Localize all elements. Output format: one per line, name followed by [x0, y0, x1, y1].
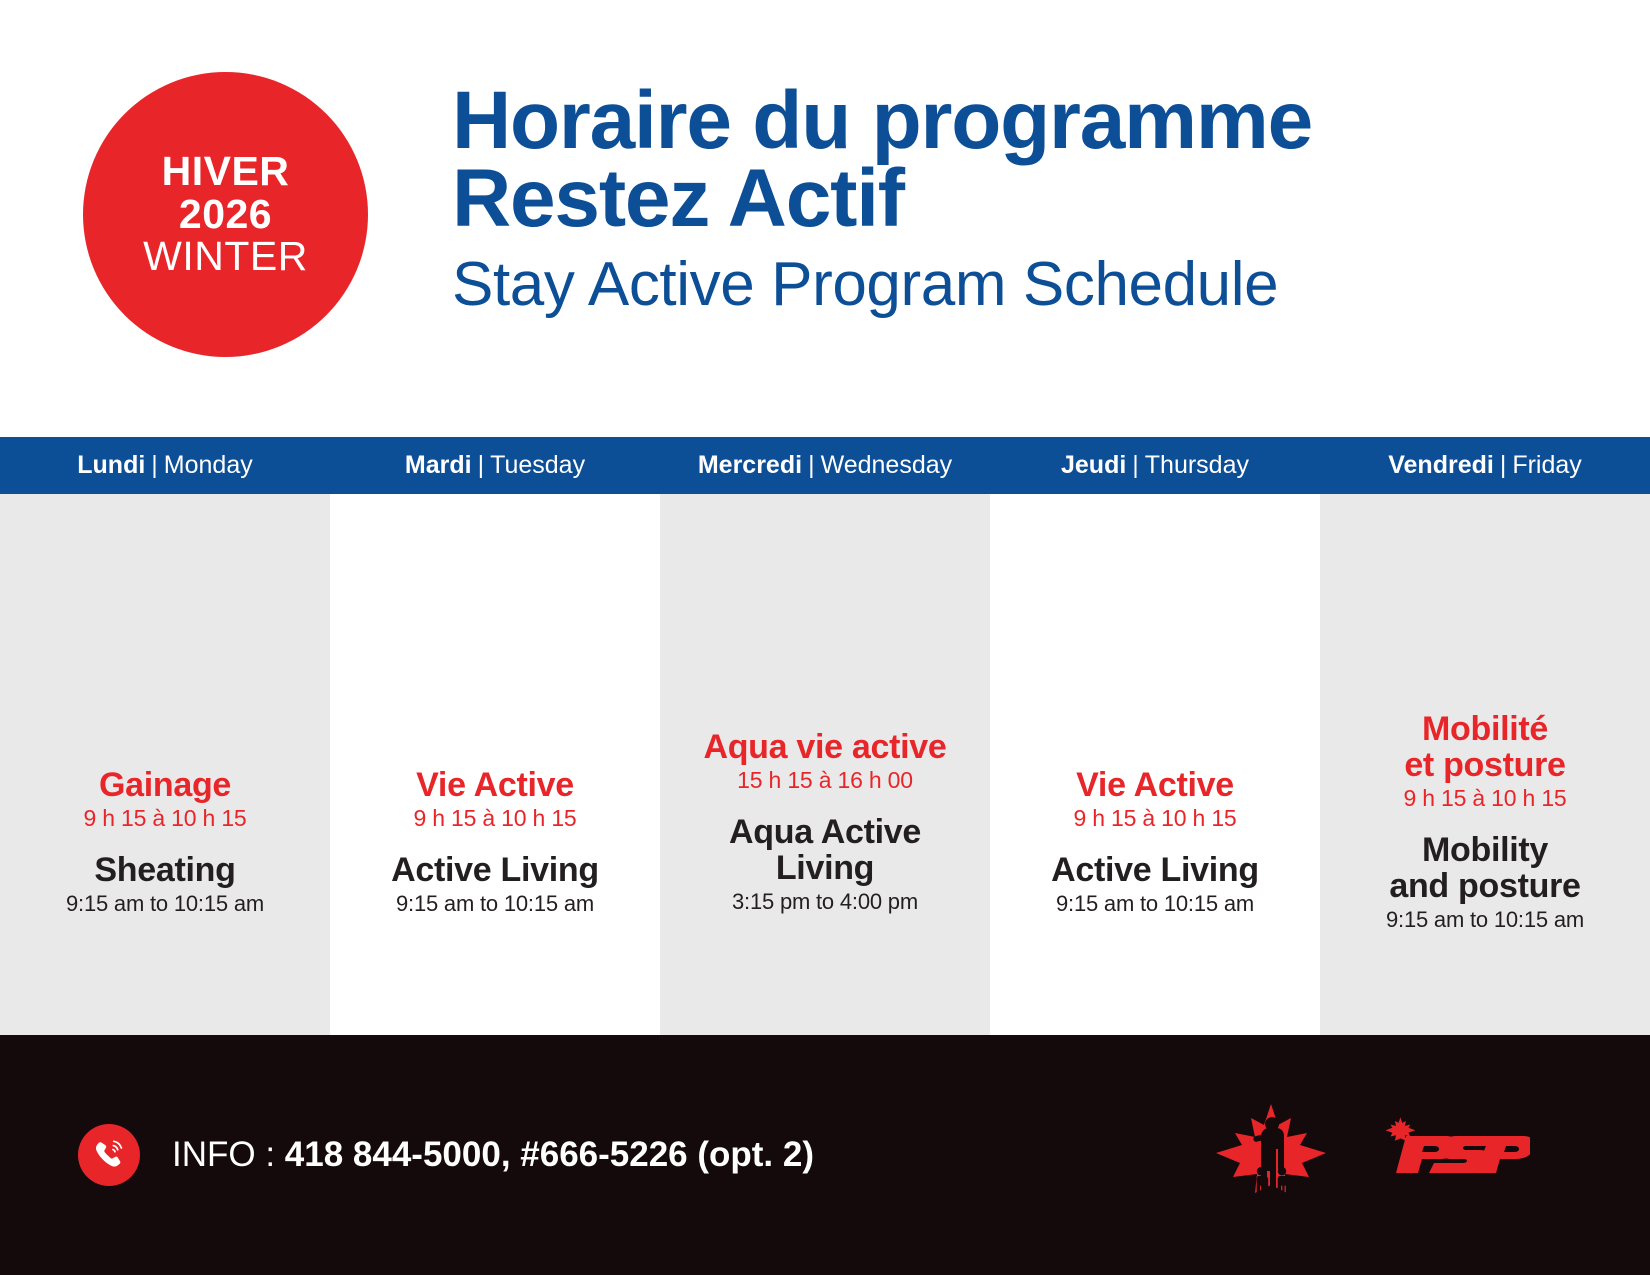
info-block: INFO : 418 844-5000, #666-5226 (opt. 2) — [78, 1124, 814, 1186]
session-title-en: Sheating — [10, 852, 320, 888]
session-title-fr: Vie Active — [340, 767, 650, 803]
day-header-friday: Vendredi | Friday — [1320, 437, 1650, 494]
session-title-fr: Aqua vie active — [670, 729, 980, 765]
day-header-sep: | — [151, 451, 158, 480]
day-header-sep: | — [478, 451, 485, 480]
day-header-en: Wednesday — [821, 451, 953, 480]
info-phone-text: INFO : 418 844-5000, #666-5226 (opt. 2) — [172, 1135, 814, 1175]
poster-header: HIVER 2026 WINTER Horaire du programme R… — [0, 0, 1650, 415]
session-time-fr: 15 h 15 à 16 h 00 — [670, 768, 980, 794]
schedule-column-wednesday: Aqua vie active 15 h 15 à 16 h 00 Aqua A… — [660, 494, 990, 1105]
season-badge: HIVER 2026 WINTER — [83, 72, 368, 357]
session-title-en: Mobility and posture — [1330, 832, 1640, 904]
session-card: Aqua vie active 15 h 15 à 16 h 00 Aqua A… — [670, 729, 980, 914]
day-header-wednesday: Mercredi | Wednesday — [660, 437, 990, 494]
session-card: Gainage 9 h 15 à 10 h 15 Sheating 9:15 a… — [10, 767, 320, 916]
day-header-fr: Jeudi — [1061, 451, 1126, 480]
info-label: INFO : — [172, 1135, 285, 1174]
session-time-en: 9:15 am to 10:15 am — [1330, 908, 1640, 933]
season-badge-year: 2026 — [179, 194, 272, 236]
session-time-en: 9:15 am to 10:15 am — [340, 892, 650, 917]
session-card: Vie Active 9 h 15 à 10 h 15 Active Livin… — [1000, 767, 1310, 916]
poster-root: HIVER 2026 WINTER Horaire du programme R… — [0, 0, 1650, 1275]
cfmws-maple-leaf-soldier-logo — [1212, 1101, 1330, 1209]
schedule-column-tuesday: Vie Active 9 h 15 à 10 h 15 Active Livin… — [330, 494, 660, 1105]
session-time-fr: 9 h 15 à 10 h 15 — [1330, 786, 1640, 812]
schedule-grid: Gainage 9 h 15 à 10 h 15 Sheating 9:15 a… — [0, 494, 1650, 1105]
session-title-fr: Vie Active — [1000, 767, 1310, 803]
session-title-en: Aqua Active Living — [670, 814, 980, 886]
day-header-en: Friday — [1512, 451, 1581, 480]
day-header-fr: Mardi — [405, 451, 472, 480]
session-title-fr: Mobilité et posture — [1330, 711, 1640, 783]
session-time-fr: 9 h 15 à 10 h 15 — [340, 806, 650, 832]
page-title-fr: Horaire du programme Restez Actif — [452, 82, 1602, 238]
day-header-fr: Vendredi — [1388, 451, 1494, 480]
session-card: Mobilité et posture 9 h 15 à 10 h 15 Mob… — [1330, 711, 1640, 933]
day-header-sep: | — [808, 451, 815, 480]
psp-logo — [1382, 1116, 1530, 1194]
session-time-en: 3:15 pm to 4:00 pm — [670, 890, 980, 915]
phone-ringing-icon — [78, 1124, 140, 1186]
session-time-en: 9:15 am to 10:15 am — [10, 892, 320, 917]
day-header-en: Thursday — [1145, 451, 1249, 480]
season-badge-en: WINTER — [143, 236, 308, 278]
days-header-bar: Lundi | Monday Mardi | Tuesday Mercredi … — [0, 437, 1650, 494]
session-title-en: Active Living — [340, 852, 650, 888]
day-header-fr: Lundi — [77, 451, 145, 480]
day-header-fr: Mercredi — [698, 451, 802, 480]
schedule-column-thursday: Vie Active 9 h 15 à 10 h 15 Active Livin… — [990, 494, 1320, 1105]
schedule-column-monday: Gainage 9 h 15 à 10 h 15 Sheating 9:15 a… — [0, 494, 330, 1105]
day-header-sep: | — [1500, 451, 1507, 480]
session-title-fr: Gainage — [10, 767, 320, 803]
session-title-en: Active Living — [1000, 852, 1310, 888]
session-time-fr: 9 h 15 à 10 h 15 — [1000, 806, 1310, 832]
season-badge-fr: HIVER — [162, 151, 290, 193]
page-title-en: Stay Active Program Schedule — [452, 252, 1602, 317]
day-header-monday: Lundi | Monday — [0, 437, 330, 494]
schedule-column-friday: Mobilité et posture 9 h 15 à 10 h 15 Mob… — [1320, 494, 1650, 1105]
day-header-en: Monday — [164, 451, 253, 480]
session-time-en: 9:15 am to 10:15 am — [1000, 892, 1310, 917]
day-header-thursday: Jeudi | Thursday — [990, 437, 1320, 494]
session-time-fr: 9 h 15 à 10 h 15 — [10, 806, 320, 832]
title-group: Horaire du programme Restez Actif Stay A… — [452, 82, 1602, 317]
day-header-tuesday: Mardi | Tuesday — [330, 437, 660, 494]
poster-footer: INFO : 418 844-5000, #666-5226 (opt. 2) — [0, 1035, 1650, 1275]
session-card: Vie Active 9 h 15 à 10 h 15 Active Livin… — [340, 767, 650, 916]
day-header-sep: | — [1132, 451, 1139, 480]
day-header-en: Tuesday — [490, 451, 585, 480]
footer-logos — [1212, 1101, 1530, 1209]
info-number: 418 844-5000, #666-5226 (opt. 2) — [285, 1135, 814, 1174]
